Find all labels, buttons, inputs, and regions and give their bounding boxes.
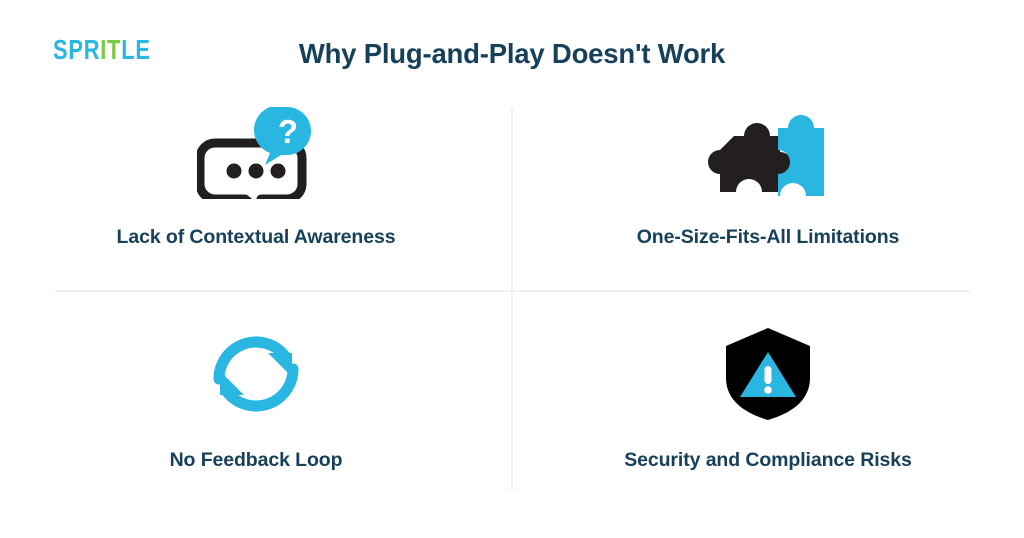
quadrant-no-feedback-loop: No Feedback Loop — [0, 298, 512, 500]
puzzle-pieces-icon — [704, 110, 832, 196]
quadrant-grid: ? Lack of Contextual Awareness One-Size-… — [0, 96, 1024, 500]
chat-bubble-question-icon-wrap: ? — [197, 105, 315, 201]
quadrant-label: One-Size-Fits-All Limitations — [637, 225, 900, 249]
exclamation-dot — [764, 386, 772, 394]
refresh-loop-icon — [209, 327, 303, 421]
quadrant-label: Security and Compliance Risks — [624, 448, 912, 472]
quadrant-label: No Feedback Loop — [170, 448, 343, 472]
quadrant-one-size-fits-all-limitations: One-Size-Fits-All Limitations — [512, 96, 1024, 298]
chat-bubble-question-icon: ? — [197, 107, 315, 199]
quadrant-lack-of-contextual-awareness: ? Lack of Contextual Awareness — [0, 96, 512, 298]
shield-warning-icon — [722, 326, 814, 422]
shield-warning-icon-wrap — [722, 326, 814, 422]
exclamation-bar — [765, 366, 772, 384]
page-header: SPRITLE Why Plug-and-Play Doesn't Work — [0, 0, 1024, 95]
puzzle-pieces-icon-wrap — [704, 105, 832, 201]
refresh-loop-icon-wrap — [209, 326, 303, 422]
quadrant-label: Lack of Contextual Awareness — [117, 225, 396, 249]
question-mark-glyph: ? — [278, 113, 298, 150]
quadrant-security-and-compliance-risks: Security and Compliance Risks — [512, 298, 1024, 500]
page-title: Why Plug-and-Play Doesn't Work — [0, 38, 1024, 70]
